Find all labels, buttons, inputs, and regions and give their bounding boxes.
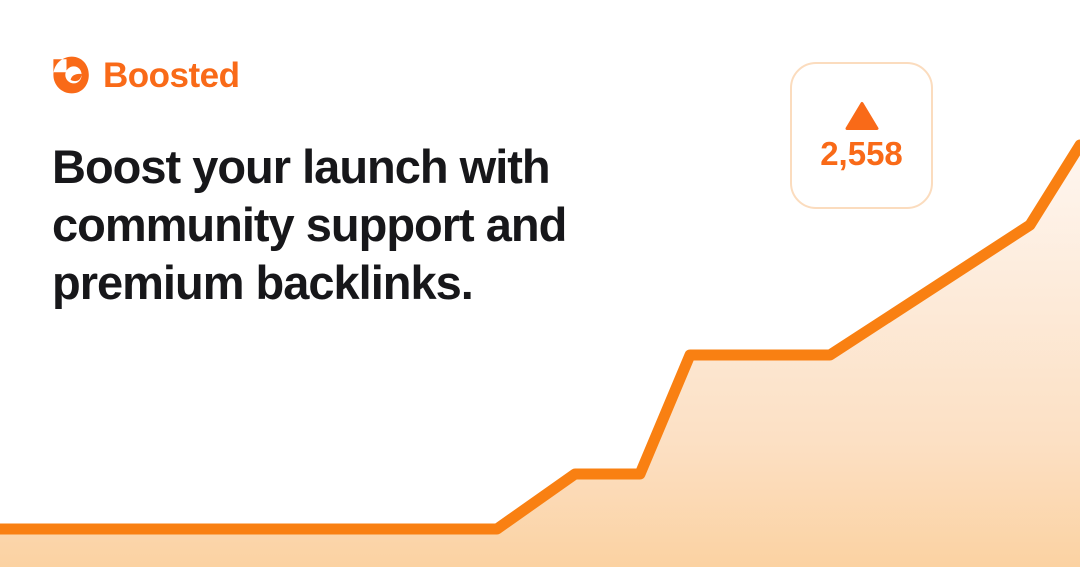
headline: Boost your launch with community support…: [52, 138, 662, 312]
brand-lockup: Boosted: [52, 55, 240, 95]
headline-line-2: community support and: [52, 196, 662, 254]
boosted-logo-icon: [52, 55, 90, 95]
headline-line-3: premium backlinks.: [52, 254, 662, 312]
upvote-count: 2,558: [820, 137, 903, 170]
upvote-badge[interactable]: 2,558: [790, 62, 933, 209]
brand-name: Boosted: [103, 58, 240, 93]
headline-line-1: Boost your launch with: [52, 138, 662, 196]
upvote-triangle-icon: [845, 101, 879, 131]
boosted-promo-banner: Boosted Boost your launch with community…: [0, 0, 1080, 567]
